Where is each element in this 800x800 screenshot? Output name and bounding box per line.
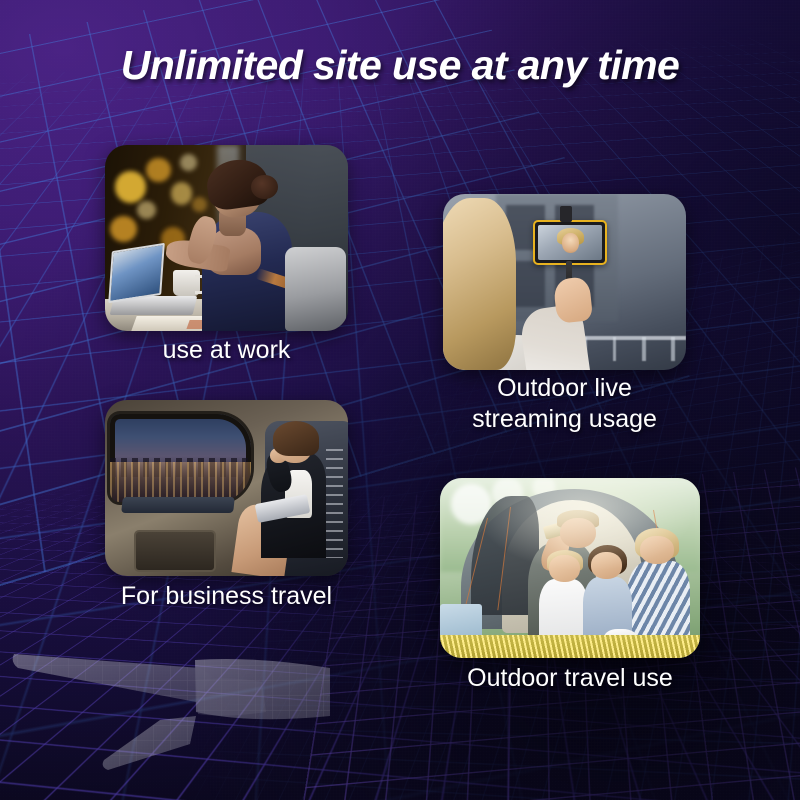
jet-window [110,414,251,502]
coffee-cup [173,270,200,296]
balcony-baluster [671,337,674,362]
bokeh-light [137,201,156,220]
woman-hand [553,277,594,325]
balcony-baluster [642,337,645,362]
promo-poster: Unlimited site use at any time [0,0,800,800]
caption-use-at-work: use at work [105,335,348,366]
cabin-table [121,497,234,513]
caption-outdoor-live-streaming: Outdoor live streaming usage [423,373,706,435]
cabin-panel [134,530,216,573]
photo-card-use-at-work [105,145,348,331]
office-chair [285,247,346,331]
phone-mount-clip [560,206,572,222]
photo-business-travel [105,400,348,576]
city-lights [110,462,251,502]
bokeh-light [171,182,193,204]
phone-screen [538,225,602,259]
bokeh-light [110,216,137,242]
screen-subject-face [562,233,579,253]
page-title: Unlimited site use at any time [0,42,800,89]
bokeh-light [146,158,170,182]
bokeh-light [115,171,147,203]
woman-blonde-hair [443,198,516,370]
bokeh-light [180,154,197,171]
photo-outdoor-travel [440,478,700,658]
sunlight-glow [440,478,700,658]
photo-use-at-work [105,145,348,331]
photo-card-business-travel [105,400,348,576]
airplane-icon [0,620,330,800]
photo-card-outdoor-live-streaming [443,194,686,370]
seat-stitching [326,449,343,558]
woman-hair-bun [251,175,278,199]
caption-business-travel: For business travel [85,581,368,612]
bokeh-light [192,197,207,212]
photo-outdoor-live-streaming [443,194,686,370]
woman-hair [273,421,319,456]
balcony-baluster [613,337,616,362]
caption-outdoor-travel: Outdoor travel use [420,663,720,694]
photo-card-outdoor-travel [440,478,700,658]
smartphone [533,220,607,264]
laptop-screen [108,243,164,304]
